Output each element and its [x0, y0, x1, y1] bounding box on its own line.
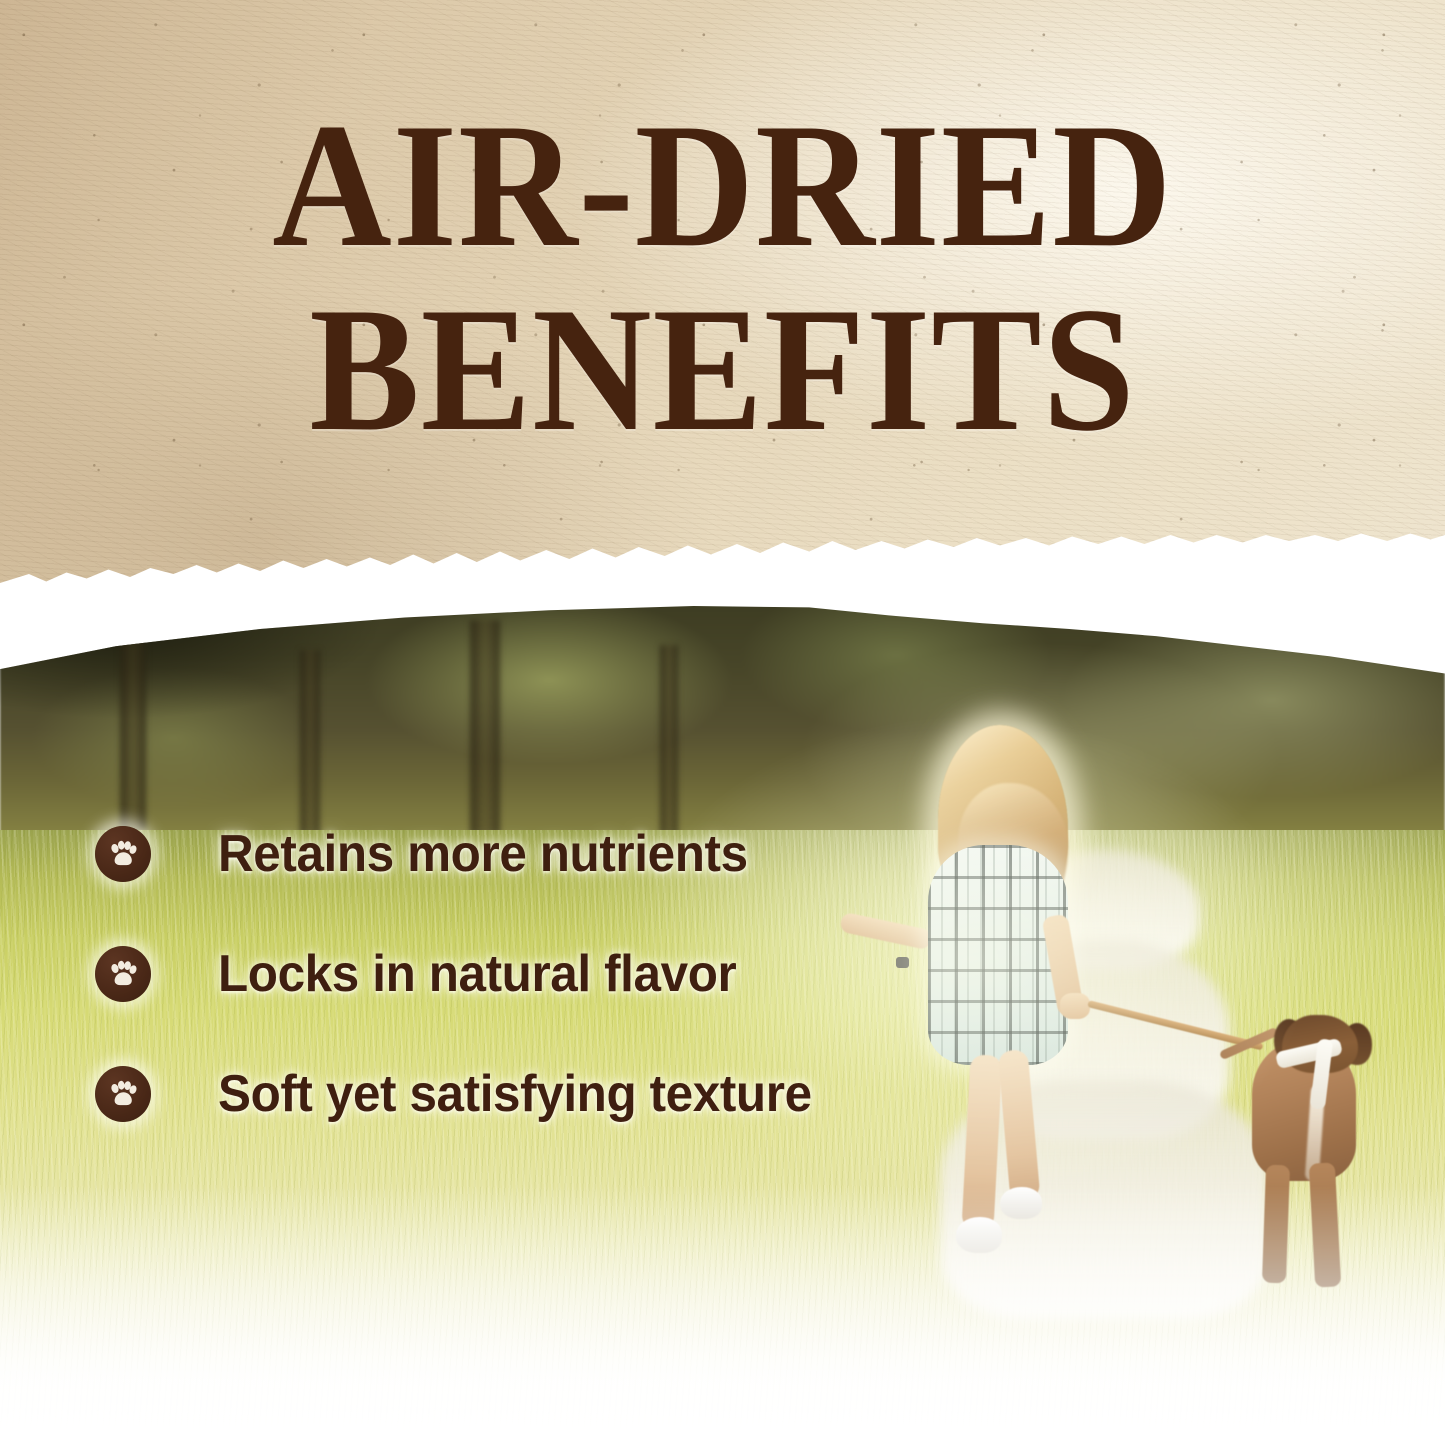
benefit-label-3: Soft yet satisfying texture: [218, 1064, 812, 1124]
paw-print-icon: [95, 826, 151, 882]
paw-print-icon: [95, 946, 151, 1002]
benefit-label-2: Locks in natural flavor: [218, 944, 736, 1004]
paw-print-icon: [95, 1066, 151, 1122]
benefits-list: Retains more nutrients Locks in natural …: [0, 0, 1445, 1436]
air-dried-benefits-banner: AIR-DRIED BENEFITS: [0, 0, 1445, 1436]
benefit-label-1: Retains more nutrients: [218, 824, 748, 884]
